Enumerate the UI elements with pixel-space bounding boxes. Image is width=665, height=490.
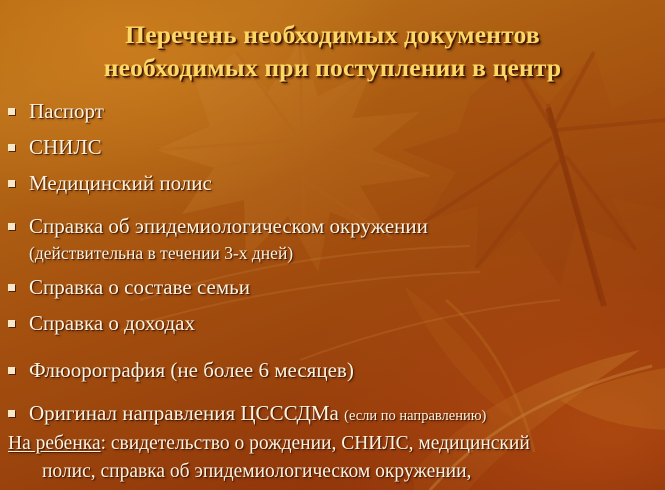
square-bullet-icon: [8, 367, 15, 374]
requirements-list: Паспорт СНИЛС Медицинский полис Справка …: [0, 96, 665, 431]
footer-line-1: : свидетельство о рождении, СНИЛС, медиц…: [101, 433, 530, 454]
list-item-note: (если по направлению): [344, 408, 486, 424]
square-bullet-icon: [8, 144, 15, 151]
list-item-label-wrapper: Справка об эпидемиологическом окружении …: [29, 211, 665, 266]
footer-line-2: полис, справка об эпидемиологическом окр…: [8, 458, 653, 486]
list-item: Оригинал направления ЦСССДМа (если по на…: [0, 398, 665, 431]
list-item-label: СНИЛС: [29, 132, 665, 162]
list-item-label: Оригинал направления ЦСССДМа: [29, 401, 344, 425]
title-line-1: Перечень необходимых документов: [125, 20, 540, 49]
list-item-label: Медицинский полис: [29, 168, 665, 198]
spacer: [0, 338, 665, 355]
square-bullet-icon: [8, 284, 15, 291]
list-item-label: Флюорография (не более 6 месяцев): [29, 355, 665, 385]
title-line-2: необходимых при поступлении в центр: [0, 51, 665, 84]
list-item: Справка об эпидемиологическом окружении …: [0, 211, 665, 266]
square-bullet-icon: [8, 410, 15, 417]
list-item: Флюорография (не более 6 месяцев): [0, 355, 665, 385]
presentation-slide: Перечень необходимых документов необходи…: [0, 0, 665, 490]
list-item-sublabel: (действительна в течении 3-х дней): [29, 241, 665, 266]
spacer: [0, 385, 665, 398]
list-item-label-wrapper: Оригинал направления ЦСССДМа (если по на…: [29, 398, 665, 431]
footer-lead: На ребенка: [8, 433, 101, 454]
slide-title: Перечень необходимых документов необходи…: [0, 18, 665, 84]
list-item: Медицинский полис: [0, 168, 665, 198]
square-bullet-icon: [8, 320, 15, 327]
list-item: СНИЛС: [0, 132, 665, 162]
square-bullet-icon: [8, 223, 15, 230]
square-bullet-icon: [8, 108, 15, 115]
list-item-label: Справка об эпидемиологическом окружении: [29, 214, 428, 238]
square-bullet-icon: [8, 180, 15, 187]
spacer: [0, 198, 665, 211]
list-item: Справка о составе семьи: [0, 272, 665, 302]
footer-note: На ребенка: свидетельство о рождении, СН…: [8, 430, 653, 486]
list-item: Паспорт: [0, 96, 665, 126]
list-item: Справка о доходах: [0, 308, 665, 338]
list-item-label: Паспорт: [29, 96, 665, 126]
list-item-label: Справка о доходах: [29, 308, 665, 338]
list-item-label: Справка о составе семьи: [29, 272, 665, 302]
